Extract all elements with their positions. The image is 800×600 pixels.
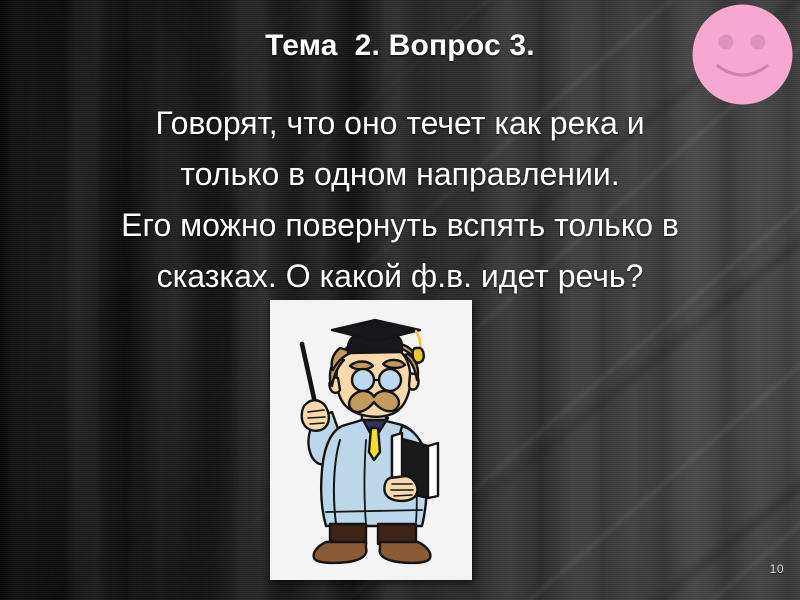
professor-with-pointer-illustration — [270, 300, 472, 580]
question-line-2: только в одном направлении. — [34, 149, 766, 200]
slide-title: Тема 2. Вопрос 3. — [0, 29, 800, 63]
question-text-block: Говорят, что оно течет как река и только… — [34, 98, 766, 302]
smiley-face-icon — [690, 2, 795, 107]
question-line-3: Его можно повернуть вспять только в — [34, 200, 766, 251]
question-line-1: Говорят, что оно течет как река и — [34, 98, 766, 149]
slide-canvas: Тема 2. Вопрос 3. Говорят, что оно течет… — [0, 0, 800, 600]
page-number: 10 — [770, 562, 784, 576]
question-line-4: сказках. О какой ф.в. идет речь? — [34, 251, 766, 302]
